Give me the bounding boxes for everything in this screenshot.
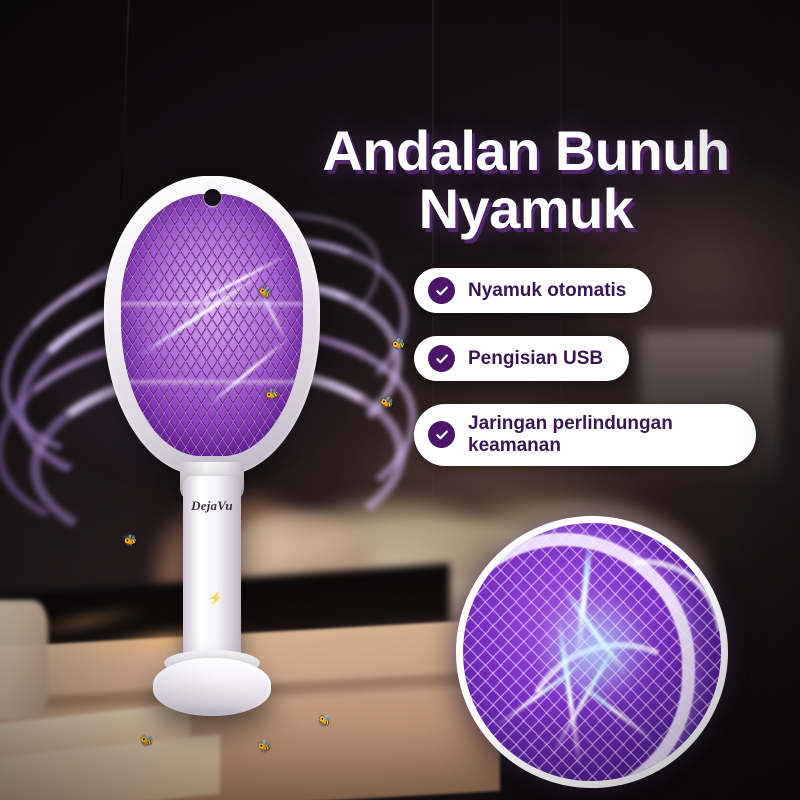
feature-pill-label: Jaringan perlindungan keamanan: [468, 413, 730, 457]
inset-center-glow: [535, 590, 654, 709]
feature-pill-1[interactable]: Nyamuk otomatis: [414, 268, 652, 313]
hang-hole-icon: [204, 189, 221, 206]
product-poster: DejaVu ⚡ 🐝 🐝 🐝 🐝 🐝 🐝 🐝 🐝 Andalan Bunuh N…: [0, 0, 800, 800]
charging-base: [153, 658, 271, 716]
headline-line-2: Nyamuk: [252, 180, 800, 238]
check-circle-icon: [428, 421, 455, 448]
brand-logo: DejaVu: [183, 498, 241, 514]
racket-handle: DejaVu ⚡: [183, 476, 241, 676]
feature-pill-label: Pengisian USB: [468, 348, 603, 370]
mesh-rib: [121, 380, 303, 386]
lightning-bolt-icon: ⚡: [208, 592, 217, 605]
mesh-rib: [121, 302, 303, 308]
feature-pill-3[interactable]: Jaringan perlindungan keamanan: [414, 404, 756, 466]
zoom-detail-circle: [456, 516, 728, 788]
electric-spark-icon: [183, 252, 290, 311]
mosquito-racket-product: DejaVu ⚡: [96, 176, 328, 736]
feature-pill-label: Nyamuk otomatis: [468, 280, 626, 302]
electric-spark-icon: [139, 270, 266, 357]
check-circle-icon: [428, 277, 455, 304]
check-circle-icon: [428, 345, 455, 372]
feature-list: Nyamuk otomatis Pengisian USB Jaringan p…: [414, 268, 756, 466]
mosquito-icon: 🐝: [139, 735, 154, 747]
headline-line-1: Andalan Bunuh: [322, 119, 729, 182]
feature-pill-2[interactable]: Pengisian USB: [414, 336, 629, 381]
background-object: [0, 600, 48, 720]
mosquito-icon: 🐝: [379, 397, 394, 410]
page-title: Andalan Bunuh Nyamuk: [252, 122, 800, 238]
mosquito-icon: 🐝: [257, 741, 272, 754]
